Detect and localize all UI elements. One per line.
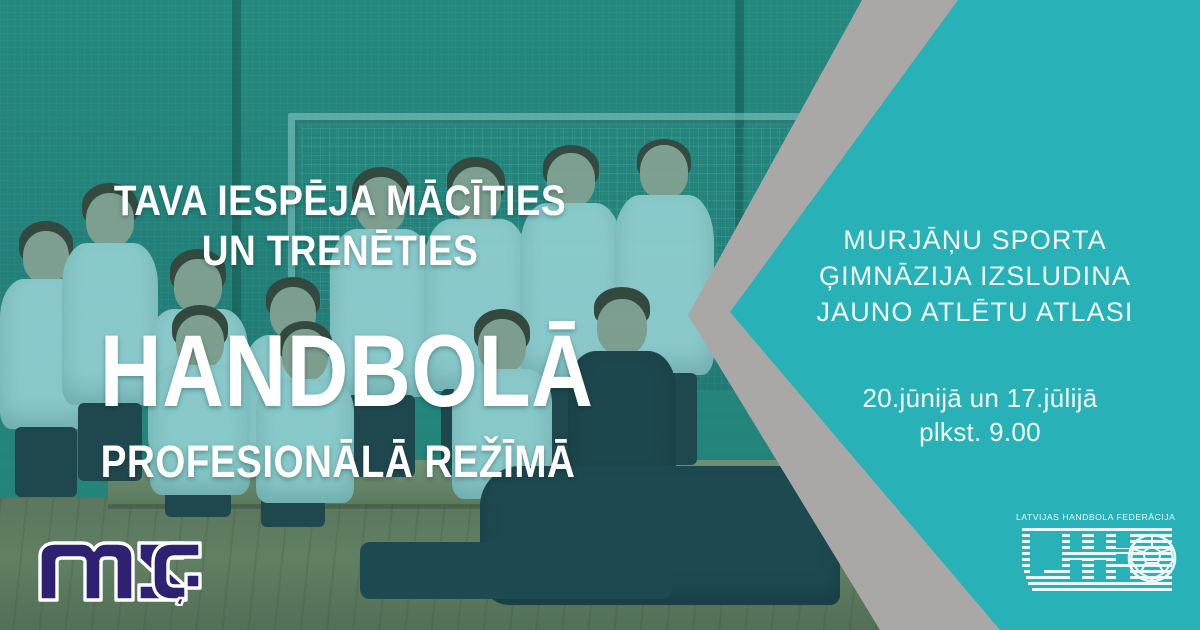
headline-line-2: UN TRENĒTIES [99, 228, 581, 274]
announcement-line-2: ĢIMNĀZIJA IZSLUDINA [760, 258, 1190, 294]
lhf-logo: LATVIJAS HANDBOLA FEDERĀCIJA [1008, 512, 1186, 608]
headline-sport: HANDBOLĀ [100, 320, 570, 422]
headline-line-3: PROFESIONĀLĀ REŽĪMĀ [97, 438, 579, 485]
lhf-logo-caption: LATVIJAS HANDBOLA FEDERĀCIJA [1016, 512, 1188, 522]
poster-canvas: TAVA IESPĒJA MĀCĪTIES UN TRENĒTIES HANDB… [0, 0, 1200, 630]
announcement-line-1: MURJĀŅU SPORTA [760, 222, 1190, 258]
event-time: plkst. 9.00 [790, 416, 1170, 450]
msg-logo: msģ [36, 534, 204, 606]
event-date: 20.jūnijā un 17.jūlijā [790, 382, 1170, 416]
event-date-block: 20.jūnijā un 17.jūlijā plkst. 9.00 [790, 382, 1170, 450]
headline-line-1: TAVA IESPĒJA MĀCĪTIES [99, 178, 581, 224]
lhf-logo-mark [1008, 526, 1186, 606]
announcement-block: MURJĀŅU SPORTA ĢIMNĀZIJA IZSLUDINA JAUNO… [760, 222, 1190, 331]
announcement-line-3: JAUNO ATLĒTU ATLASI [760, 294, 1190, 330]
msg-logo-text: msģ [36, 534, 66, 538]
